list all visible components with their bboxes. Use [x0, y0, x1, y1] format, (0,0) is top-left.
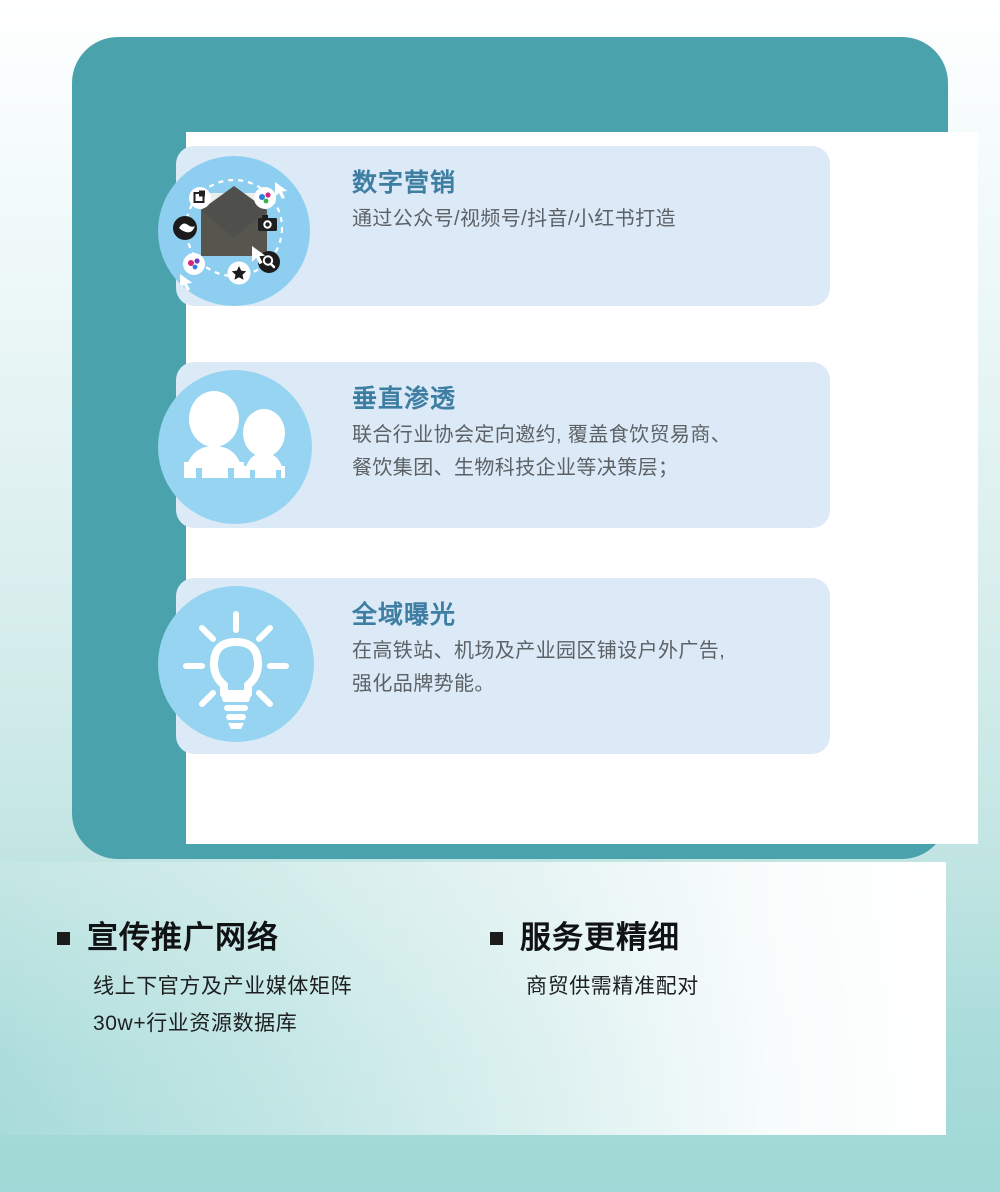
bullet-title: 服务更精细	[520, 921, 680, 955]
card-text-block: 垂直渗透 联合行业协会定向邀约, 覆盖食饮贸易商、 餐饮集团、生物科技企业等决策…	[352, 384, 830, 484]
people-group-icon	[158, 370, 312, 524]
lightbulb-icon	[158, 586, 314, 742]
bullet-detail-list: 商贸供需精准配对	[490, 968, 699, 1005]
card-description-line: 联合行业协会定向邀约, 覆盖食饮贸易商、	[352, 419, 822, 451]
card-title: 垂直渗透	[352, 384, 830, 415]
card-text-block: 全域曝光 在高铁站、机场及产业园区铺设户外广告, 强化品牌势能。	[352, 600, 830, 700]
card-description-line: 餐饮集团、生物科技企业等决策层；	[352, 452, 822, 484]
bullet-square-icon	[490, 932, 503, 945]
bullet-block-finer-service: 服务更精细 商贸供需精准配对	[490, 921, 699, 1005]
bullet-section: 宣传推广网络 线上下官方及产业媒体矩阵 30w+行业资源数据库 服务更精细 商贸…	[0, 921, 1000, 1121]
bullet-detail-line: 线上下官方及产业媒体矩阵	[93, 968, 352, 1005]
card-description-line: 通过公众号/视频号/抖音/小红书打造	[352, 203, 822, 235]
bullet-detail-list: 线上下官方及产业媒体矩阵 30w+行业资源数据库	[57, 968, 352, 1043]
card-title: 全域曝光	[352, 600, 830, 631]
bullet-square-icon	[57, 932, 70, 945]
bullet-detail-line: 商贸供需精准配对	[526, 968, 699, 1005]
bullet-heading: 宣传推广网络	[57, 921, 352, 955]
bullet-detail-line: 30w+行业资源数据库	[93, 1005, 352, 1042]
card-description-line: 在高铁站、机场及产业园区铺设户外广告,	[352, 635, 822, 667]
bullet-block-promotion-network: 宣传推广网络 线上下官方及产业媒体矩阵 30w+行业资源数据库	[57, 921, 352, 1043]
card-title: 数字营销	[352, 168, 830, 199]
card-text-block: 数字营销 通过公众号/视频号/抖音/小红书打造	[352, 168, 830, 236]
page-root: 数字营销 通过公众号/视频号/抖音/小红书打造	[0, 0, 1000, 1192]
bullet-heading: 服务更精细	[490, 921, 699, 955]
email-marketing-icon	[158, 156, 310, 306]
bullet-title: 宣传推广网络	[87, 921, 279, 955]
card-description-line: 强化品牌势能。	[352, 668, 822, 700]
